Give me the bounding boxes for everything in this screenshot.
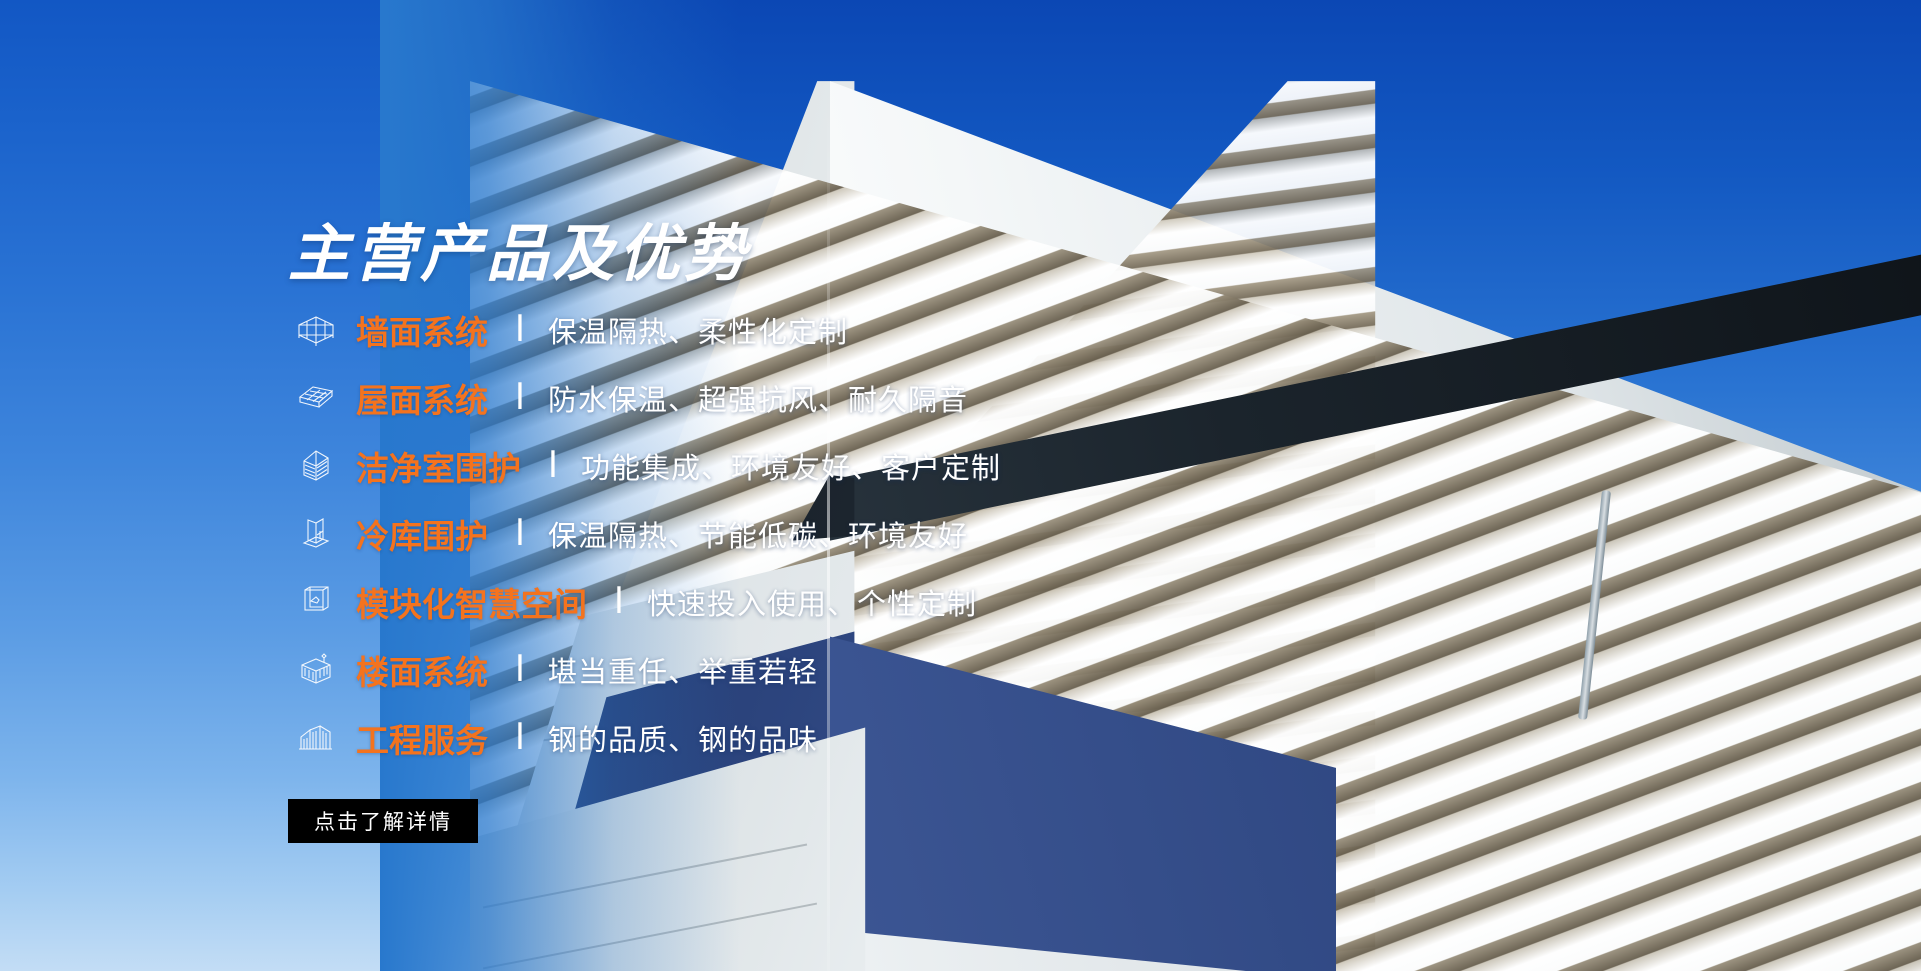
- product-description: 防水保温、超强抗风、耐久隔音: [548, 377, 968, 419]
- cleanroom-building-icon: [288, 449, 344, 483]
- product-description: 钢的品质、钢的品味: [548, 717, 818, 759]
- list-item[interactable]: 模块化智慧空间 丨 快速投入使用、个性定制: [288, 568, 1108, 636]
- product-description: 保温隔热、节能低碳、环境友好: [548, 513, 968, 555]
- product-title: 洁净室围护: [356, 442, 521, 490]
- separator-bar: 丨: [506, 383, 534, 411]
- floor-system-icon: [288, 653, 344, 687]
- engineering-service-icon: [288, 721, 344, 755]
- product-description: 快速投入使用、个性定制: [647, 581, 977, 623]
- product-description: 功能集成、环境友好、客户定制: [581, 445, 1001, 487]
- separator-bar: 丨: [605, 587, 633, 615]
- roof-panel-icon: [288, 381, 344, 415]
- product-title: 楼面系统: [356, 646, 488, 694]
- building-downpipe: [1578, 490, 1611, 720]
- learn-more-button[interactable]: 点击了解详情: [288, 799, 478, 843]
- product-description: 堪当重任、举重若轻: [548, 649, 818, 691]
- list-item[interactable]: 屋面系统 丨 防水保温、超强抗风、耐久隔音: [288, 364, 1108, 432]
- promo-banner: 主营产品及优势 墙面系统 丨 保温隔热、柔性化定制: [0, 0, 1921, 971]
- cold-storage-icon: [288, 517, 344, 551]
- wall-panel-icon: [288, 313, 344, 347]
- product-title: 模块化智慧空间: [356, 578, 587, 626]
- product-title: 冷库围护: [356, 510, 488, 558]
- product-title: 工程服务: [356, 714, 488, 762]
- product-title: 屋面系统: [356, 374, 488, 422]
- separator-bar: 丨: [506, 655, 534, 683]
- list-item[interactable]: 工程服务 丨 钢的品质、钢的品味: [288, 704, 1108, 772]
- separator-bar: 丨: [506, 723, 534, 751]
- separator-bar: 丨: [506, 519, 534, 547]
- product-list: 墙面系统 丨 保温隔热、柔性化定制 屋面系统 丨 防水保温、超强抗风、耐久隔音: [288, 296, 1108, 772]
- page-title: 主营产品及优势: [288, 203, 750, 293]
- separator-bar: 丨: [506, 315, 534, 343]
- modular-cube-icon: [288, 585, 344, 619]
- separator-bar: 丨: [539, 451, 567, 479]
- list-item[interactable]: 洁净室围护 丨 功能集成、环境友好、客户定制: [288, 432, 1108, 500]
- list-item[interactable]: 冷库围护 丨 保温隔热、节能低碳、环境友好: [288, 500, 1108, 568]
- product-title: 墙面系统: [356, 306, 488, 354]
- list-item[interactable]: 楼面系统 丨 堪当重任、举重若轻: [288, 636, 1108, 704]
- product-description: 保温隔热、柔性化定制: [548, 309, 848, 351]
- list-item[interactable]: 墙面系统 丨 保温隔热、柔性化定制: [288, 296, 1108, 364]
